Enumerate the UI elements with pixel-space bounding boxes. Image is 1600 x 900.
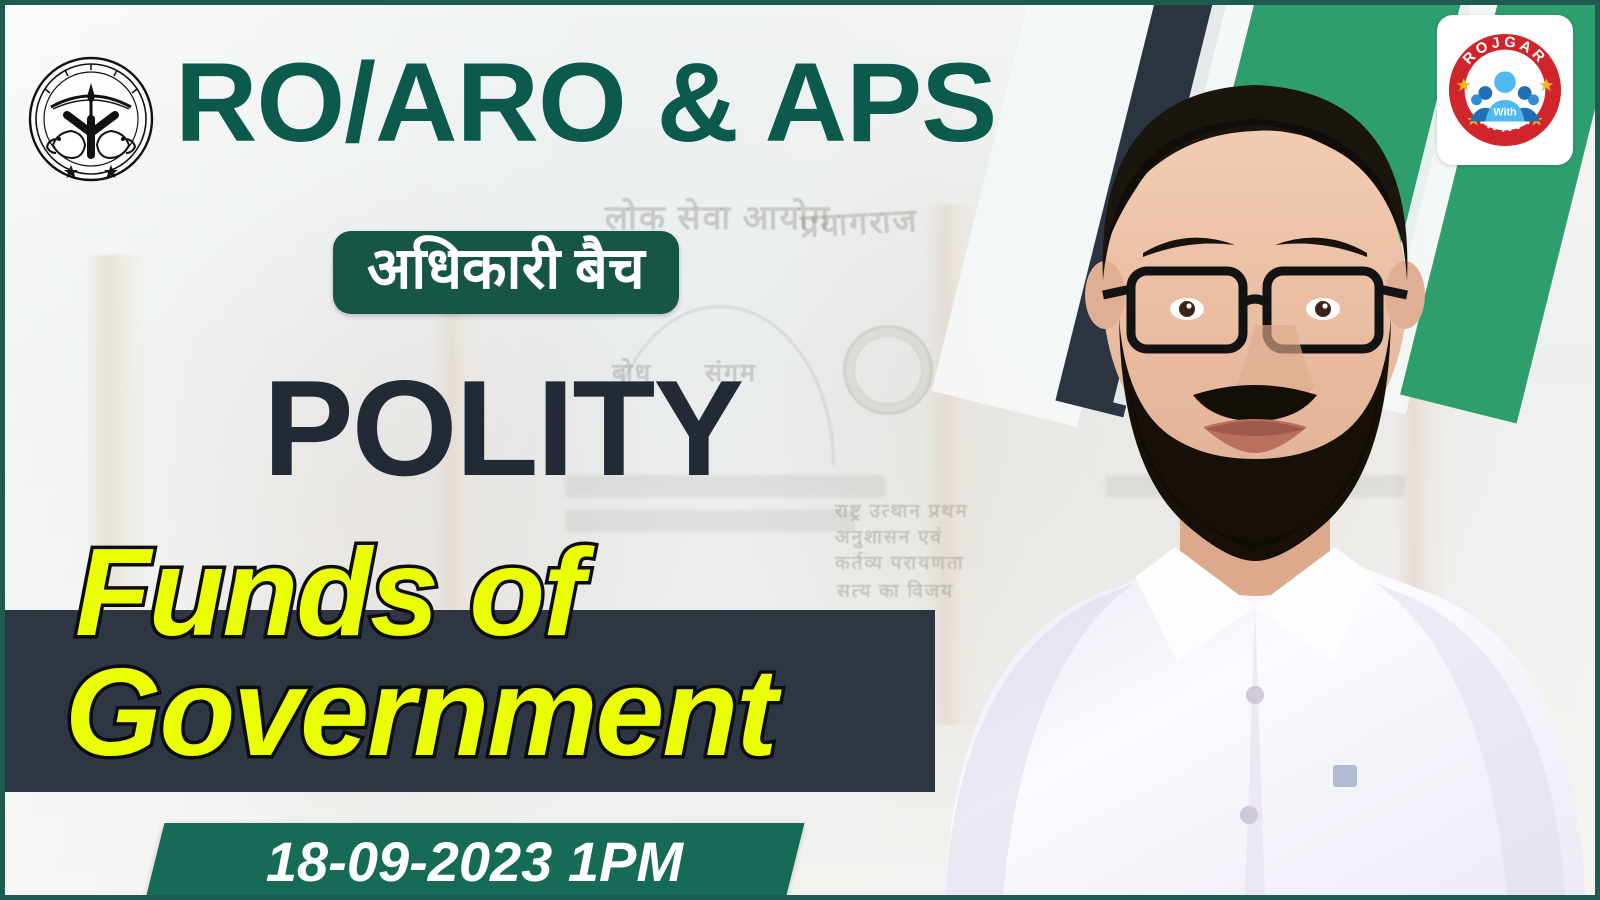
video-thumbnail: लोक सेवा आयोग प्रयागराज बोध संगम सत्य ही… (0, 0, 1600, 900)
topic-line-2: Government (65, 653, 955, 773)
svg-text:With: With (1493, 107, 1516, 119)
topic-title: Funds of Government (75, 533, 955, 774)
background-signage-row (1105, 475, 1405, 497)
topic-line-1: Funds of (75, 533, 955, 653)
rojgar-with-ankit-logo[interactable]: ROJGAR ANKIT With (1437, 15, 1573, 165)
exam-title: RO/ARO & APS (175, 47, 996, 159)
background-ghost-text: प्रयागराज (799, 198, 919, 247)
up-government-emblem-icon (27, 55, 155, 183)
background-seal (843, 325, 933, 415)
batch-badge: अधिकारी बैच (333, 231, 679, 314)
subject-title: POLITY (263, 360, 742, 496)
background-signage-row (565, 510, 855, 532)
schedule-text: 18-09-2023 1PM (266, 829, 683, 894)
background-ghost-text: राष्ट्र उत्थान प्रथम (835, 497, 969, 523)
schedule-ribbon: 18-09-2023 1PM (146, 823, 805, 899)
